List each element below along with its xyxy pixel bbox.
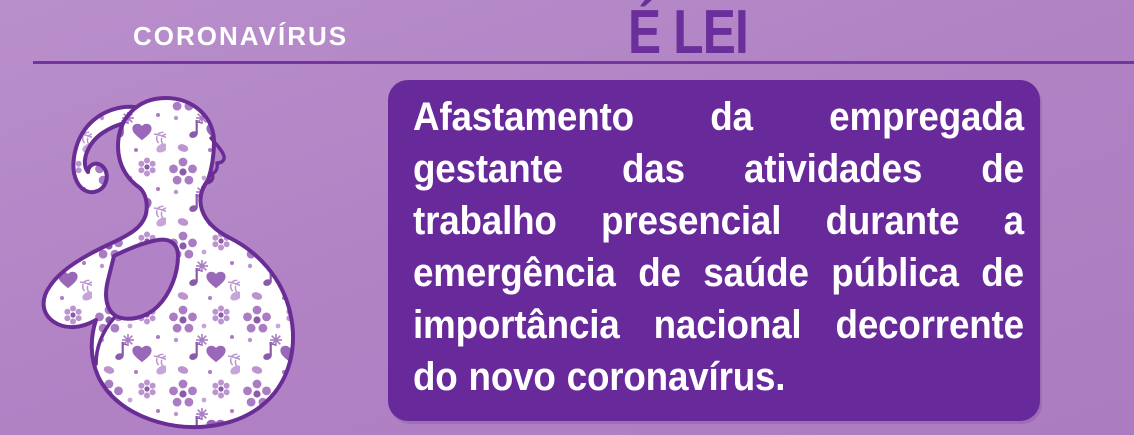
coronavirus-law-banner: CORONAVÍRUS É LEI <box>0 0 1134 435</box>
campaign-label: CORONAVÍRUS <box>133 23 348 49</box>
statement-text: Afastamento da empregada gestante das at… <box>413 91 1024 403</box>
law-label: É LEI <box>628 2 748 64</box>
pregnant-woman-floral-silhouette-icon <box>18 82 318 435</box>
header-divider <box>33 61 1134 64</box>
statement-card: Afastamento da empregada gestante das at… <box>388 80 1040 421</box>
banner-header: CORONAVÍRUS É LEI <box>0 0 1134 63</box>
